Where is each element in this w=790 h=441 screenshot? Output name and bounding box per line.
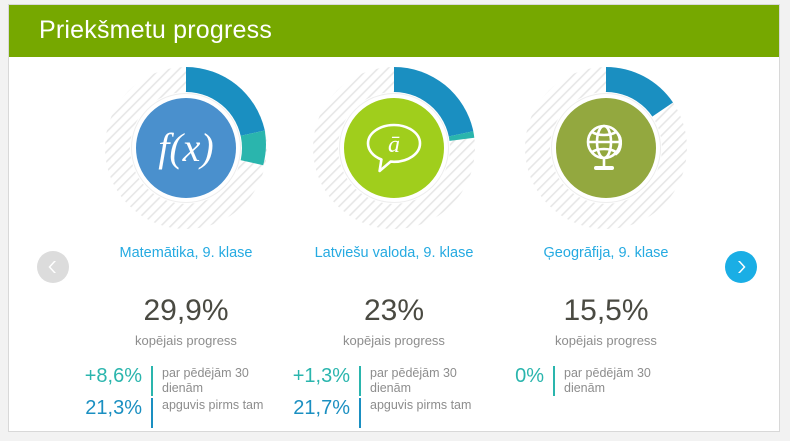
subject-icon-circle: f(x) [132, 94, 240, 202]
subject-link[interactable]: Matemātika, 9. klase [71, 245, 301, 261]
total-progress-label: kopējais progress [71, 333, 301, 348]
stat-row-prior: 21,3% apguvis pirms tam [77, 398, 301, 428]
subject-card[interactable]: Ģeogrāfija, 9. klase 15,5% kopējais prog… [491, 57, 721, 432]
progress-stats: +8,6% par pēdējām 30 dienām 21,3% apguvi… [71, 366, 301, 428]
subject-card[interactable]: f(x) Matemātika, 9. klase 29,9% kopējais… [71, 57, 301, 432]
total-progress-value: 23% [279, 296, 509, 326]
panel-header: Priekšmetu progress [9, 5, 779, 57]
progress-panel: Priekšmetu progress [8, 4, 780, 432]
total-progress-label: kopējais progress [279, 333, 509, 348]
total-progress-label: kopējais progress [491, 333, 721, 348]
globe-icon [576, 118, 636, 178]
subject-icon-circle [552, 94, 660, 202]
panel-body: f(x) Matemātika, 9. klase 29,9% kopējais… [9, 57, 779, 432]
subject-link[interactable]: Latviešu valoda, 9. klase [279, 245, 509, 261]
recent-progress-label: par pēdējām 30 dienām [153, 366, 277, 396]
recent-progress-value: 0% [497, 366, 553, 387]
stat-row-recent: 0% par pēdējām 30 dienām [497, 366, 721, 396]
recent-progress-value: +1,3% [285, 366, 359, 387]
prior-progress-label: apguvis pirms tam [153, 398, 263, 413]
total-progress-value: 29,9% [71, 296, 301, 326]
prior-progress-value: 21,7% [285, 398, 359, 419]
page-root: Priekšmetu progress [0, 0, 790, 441]
fx-icon: f(x) [158, 128, 214, 168]
progress-donut [523, 65, 689, 231]
total-progress-value: 15,5% [491, 296, 721, 326]
recent-progress-label: par pēdējām 30 dienām [361, 366, 485, 396]
svg-text:ā: ā [388, 132, 400, 158]
recent-progress-label: par pēdējām 30 dienām [555, 366, 679, 396]
stat-row-recent: +8,6% par pēdējām 30 dienām [77, 366, 301, 396]
stat-row-recent: +1,3% par pēdējām 30 dienām [285, 366, 509, 396]
recent-progress-value: +8,6% [77, 366, 151, 387]
page-title: Priekšmetu progress [39, 16, 272, 45]
progress-stats: 0% par pēdējām 30 dienām [491, 366, 721, 396]
progress-donut: ā [311, 65, 477, 231]
subject-link[interactable]: Ģeogrāfija, 9. klase [491, 245, 721, 261]
speech-bubble-a-icon: ā [363, 119, 425, 177]
subject-icon-circle: ā [340, 94, 448, 202]
subject-cards: f(x) Matemātika, 9. klase 29,9% kopējais… [23, 57, 767, 432]
progress-donut: f(x) [103, 65, 269, 231]
stat-row-prior: 21,7% apguvis pirms tam [285, 398, 509, 428]
prior-progress-value: 21,3% [77, 398, 151, 419]
subject-card[interactable]: ā Latviešu valoda, 9. klase 23% kopējais… [279, 57, 509, 432]
progress-stats: +1,3% par pēdējām 30 dienām 21,7% apguvi… [279, 366, 509, 428]
prior-progress-label: apguvis pirms tam [361, 398, 471, 413]
